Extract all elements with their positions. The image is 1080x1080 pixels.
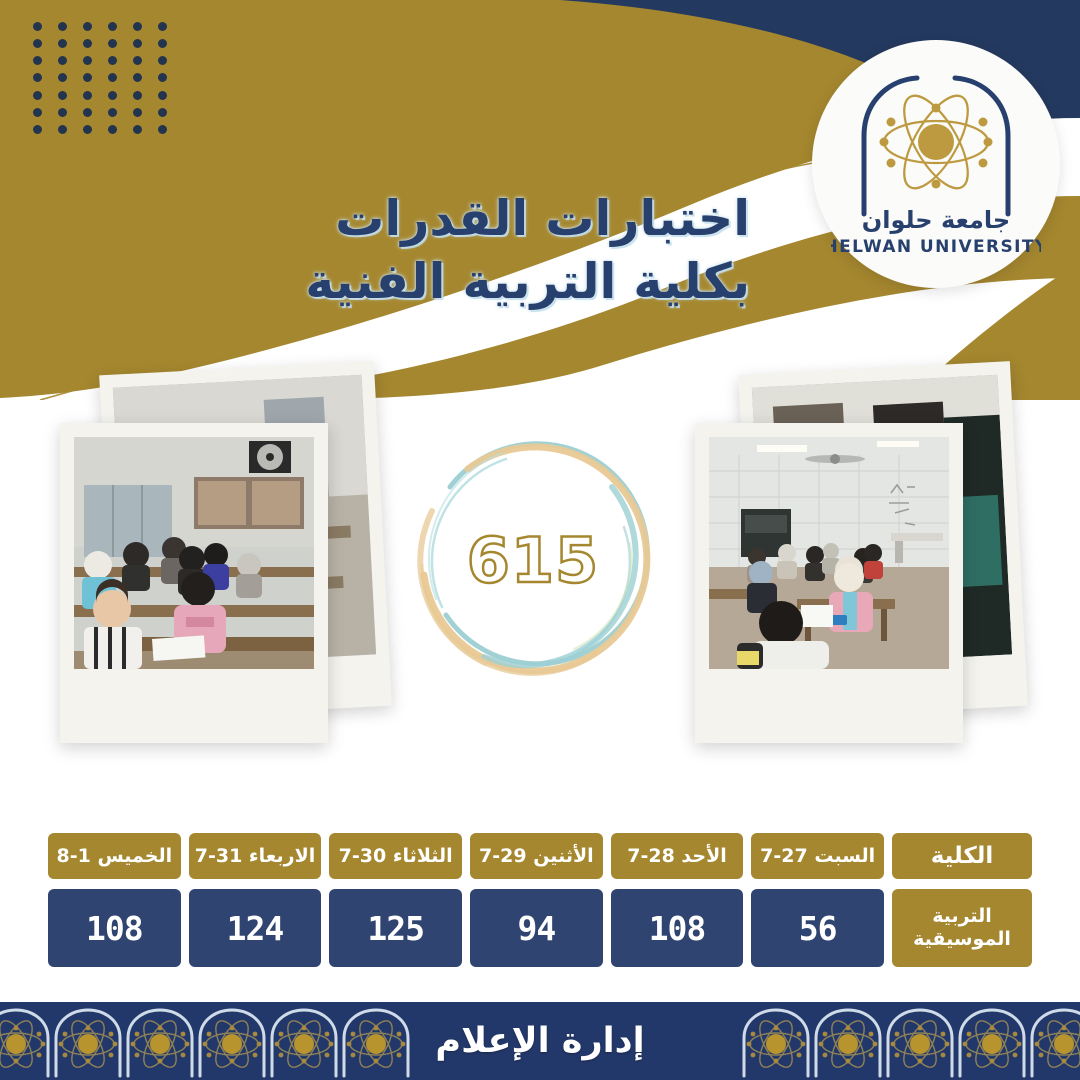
header-cell-college: الكلية bbox=[892, 833, 1032, 879]
atom-nucleus bbox=[918, 124, 954, 160]
value-cell-day-4: 124 bbox=[189, 889, 322, 967]
header-cell-day-1: الأحد 28-7 bbox=[611, 833, 744, 879]
value-cell-day-0: 56 bbox=[751, 889, 884, 967]
value-cell-day-3: 125 bbox=[329, 889, 462, 967]
logo-english-name: HELWAN UNIVERSITY bbox=[831, 237, 1041, 257]
row-label-line-2: الموسيقية bbox=[913, 928, 1011, 950]
photo-group-right bbox=[695, 368, 1035, 758]
row-label-line-1: التربية bbox=[932, 905, 992, 927]
title-line-1: اختبارات القدرات bbox=[305, 188, 750, 251]
helwan-university-logo: جامعة حلوان HELWAN UNIVERSITY bbox=[812, 40, 1060, 288]
footer-bar: إدارة الإعلام bbox=[0, 1002, 1080, 1080]
photo-group-left bbox=[60, 368, 420, 758]
dot-grid-pattern bbox=[33, 22, 183, 142]
photo-image-front-right bbox=[709, 437, 949, 669]
title-line-2: بكلية التربية الفنية bbox=[305, 251, 750, 314]
photo-frame-front-right bbox=[695, 423, 963, 743]
header-cell-day-4: الاربعاء 31-7 bbox=[189, 833, 322, 879]
photo-image-front-left bbox=[74, 437, 314, 669]
schedule-table: الكلية السبت 27-7 الأحد 28-7 الأثنين 29-… bbox=[48, 833, 1032, 967]
poster-root: جامعة حلوان HELWAN UNIVERSITY اختبارات ا… bbox=[0, 0, 1080, 1080]
table-row: التربية الموسيقية 56 108 94 125 124 108 bbox=[48, 889, 1032, 967]
total-count-value: 615 bbox=[398, 425, 668, 695]
page-title: اختبارات القدرات بكلية التربية الفنية bbox=[305, 188, 750, 313]
header-cell-day-5: الخميس 1-8 bbox=[48, 833, 181, 879]
logo-arabic-name: جامعة حلوان bbox=[862, 206, 1010, 234]
value-cell-day-2: 94 bbox=[470, 889, 603, 967]
value-cell-day-5: 108 bbox=[48, 889, 181, 967]
photo-frame-front-left bbox=[60, 423, 328, 743]
header-cell-day-2: الأثنين 29-7 bbox=[470, 833, 603, 879]
footer-label: إدارة الإعلام bbox=[0, 1002, 1080, 1080]
header-cell-day-0: السبت 27-7 bbox=[751, 833, 884, 879]
total-count-circle: 615 bbox=[398, 425, 668, 695]
value-cell-day-1: 108 bbox=[611, 889, 744, 967]
header-cell-day-3: الثلاثاء 30-7 bbox=[329, 833, 462, 879]
row-label-music-education: التربية الموسيقية bbox=[892, 889, 1032, 967]
table-header-row: الكلية السبت 27-7 الأحد 28-7 الأثنين 29-… bbox=[48, 833, 1032, 879]
